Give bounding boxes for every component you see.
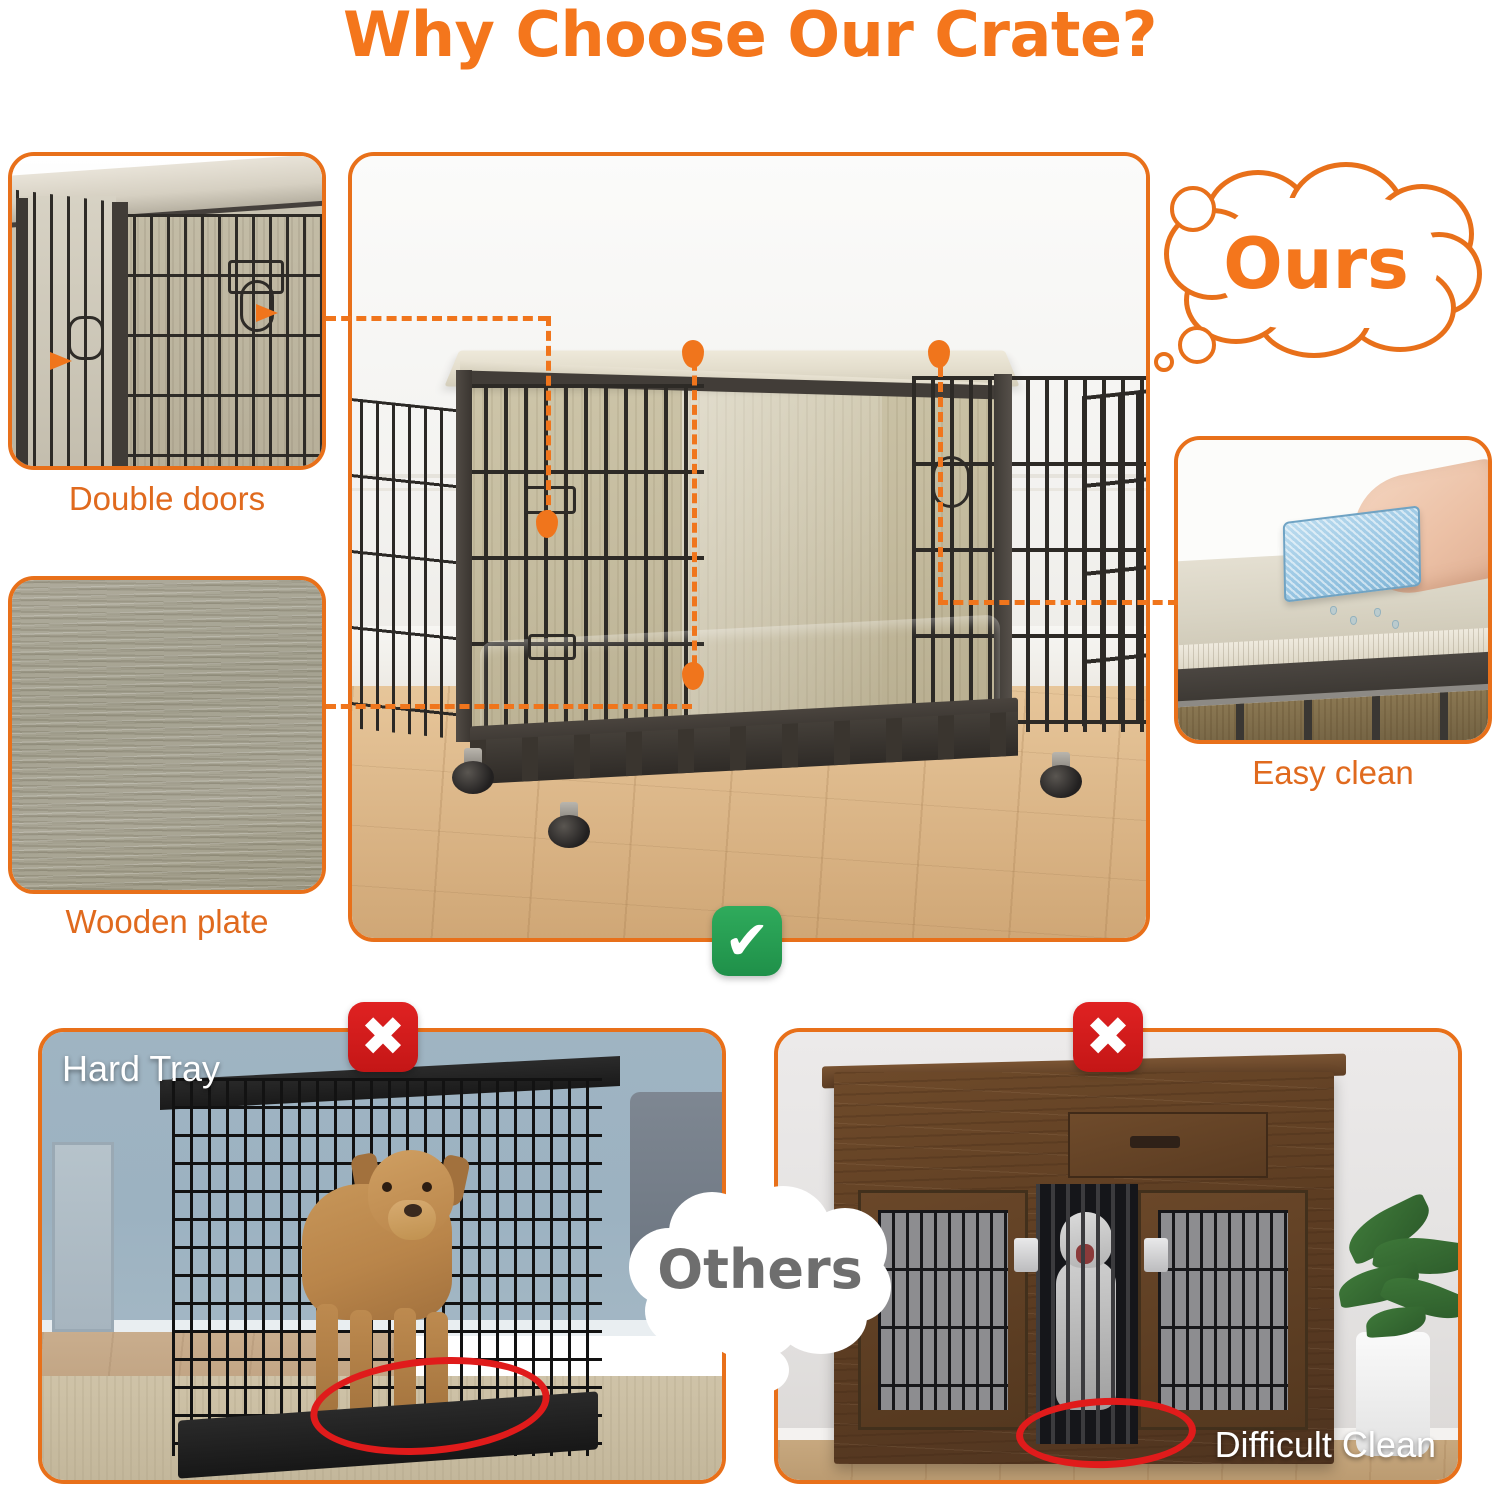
wood-grain-texture (12, 580, 322, 890)
crate-frame-post-middle (112, 202, 128, 466)
shelf-unit (52, 1142, 114, 1332)
water-droplet-3 (1374, 608, 1381, 617)
hard-tray-label: Hard Tray (62, 1048, 220, 1090)
x-mark-badge-hard-tray: ✖ (348, 1002, 418, 1072)
cloud-tail-bubble (741, 1348, 789, 1392)
connector-line-double-doors-vertical (546, 316, 551, 520)
x-mark-icon: ✖ (360, 1010, 405, 1064)
hero-panel-our-crate (348, 152, 1150, 942)
x-mark-badge-difficult-clean: ✖ (1073, 1002, 1143, 1072)
our-crate-photo (352, 156, 1146, 938)
arrow-pointer-right-latch-icon (256, 304, 278, 322)
caption-easy-clean: Easy clean (1174, 754, 1492, 792)
cloud-tail-bubble-small (1154, 352, 1174, 372)
cage-panel-left (352, 397, 472, 740)
door-hinge-left (1014, 1238, 1038, 1272)
connector-line-wooden-top-vertical (692, 346, 697, 680)
caster-wheel-rear-right (1040, 752, 1082, 798)
connector-line-easy-clean-vertical (938, 352, 943, 602)
caption-double-doors: Double doors (8, 480, 326, 518)
cage-bars-horizontal-front (116, 214, 322, 466)
difficult-clean-label: Difficult Clean (1215, 1424, 1436, 1466)
check-mark-badge: ✔ (712, 906, 782, 976)
feature-panel-easy-clean (1174, 436, 1492, 744)
connector-line-easy-clean (938, 600, 1178, 605)
others-label: Others (625, 1238, 895, 1301)
check-mark-icon: ✔ (724, 914, 769, 968)
easy-clean-photo (1178, 440, 1488, 740)
door-hinge-right (1144, 1238, 1168, 1272)
dog-eye-right (422, 1182, 432, 1192)
feature-panel-double-doors (8, 152, 326, 470)
others-thought-bubble: Others (625, 1192, 895, 1382)
water-droplet-2 (1350, 616, 1357, 625)
caster-wheel (548, 815, 590, 848)
cloud-tail-bubble-mid (1178, 326, 1216, 364)
caster-wheel (452, 761, 494, 794)
feature-panel-wooden-plate (8, 576, 326, 894)
water-droplet-1 (1330, 606, 1337, 615)
arrow-pointer-left-latch-icon (50, 352, 72, 370)
caster-wheel-front-center (548, 802, 590, 848)
caster-wheel (1040, 765, 1082, 798)
cage-door-open-right (1082, 388, 1146, 726)
water-droplet-4 (1392, 620, 1399, 629)
crate-frame-post-left (456, 370, 472, 742)
crate-frame-post-left (16, 198, 28, 466)
wooden-plate-texture-photo (12, 580, 322, 890)
hard-tray-photo: Hard Tray (42, 1032, 722, 1480)
caption-wooden-plate: Wooden plate (8, 903, 326, 941)
x-mark-icon: ✖ (1085, 1010, 1130, 1064)
connector-line-double-doors (326, 316, 548, 321)
ours-thought-bubble: Ours (1148, 168, 1484, 368)
double-doors-photo (12, 156, 322, 466)
connector-line-wooden-plate (326, 704, 692, 709)
drawer-handle (1130, 1136, 1180, 1148)
comparison-panel-hard-tray: Hard Tray (38, 1028, 726, 1484)
dog-nose (404, 1204, 422, 1217)
door-latch-hook-left (68, 316, 104, 360)
cleaning-cloth (1283, 505, 1421, 602)
cabinet-mesh-left (878, 1210, 1008, 1410)
ours-label: Ours (1148, 223, 1484, 305)
dog-eye-left (382, 1182, 392, 1192)
caster-wheel-front-left (452, 748, 494, 794)
page-title: Why Choose Our Crate? (0, 2, 1500, 67)
cabinet-mesh-right (1158, 1210, 1288, 1410)
crate-door-latch-lower (528, 634, 576, 660)
